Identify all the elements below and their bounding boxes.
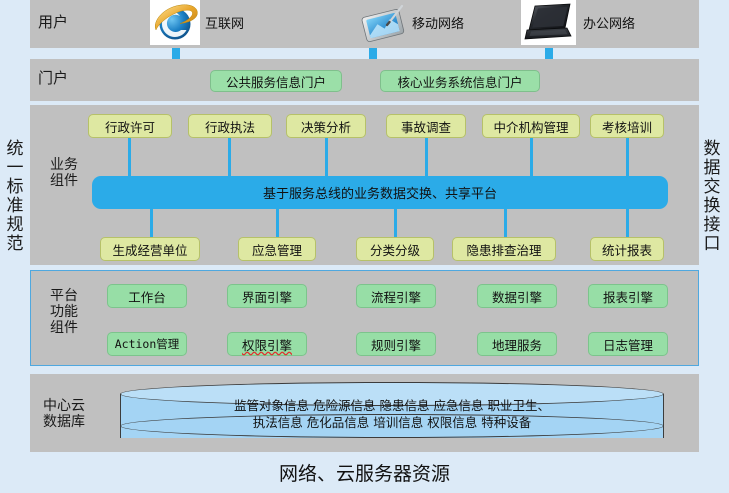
side-right-char-0: 数 <box>697 140 727 159</box>
side-left-char-5: 范 <box>0 235 30 254</box>
service-bus-bar[interactable]: 基于服务总线的业务数据交换、共享平台 <box>92 176 668 209</box>
connector-line <box>276 209 279 237</box>
business-node-administrative-enforcement[interactable]: 行政执法 <box>188 114 272 138</box>
internet-endpoint-label: 互联网 <box>205 13 244 32</box>
database-row-label-line-0: 中心云 <box>33 398 95 414</box>
portal-row-label: 门户 <box>38 70 98 87</box>
users-row-label: 用户 <box>38 14 98 31</box>
side-right-char-3: 换 <box>697 197 727 216</box>
platform-node-ui-engine[interactable]: 界面引擎 <box>227 284 307 308</box>
business-node-assessment-training[interactable]: 考核培训 <box>590 114 664 138</box>
business-node-statistical-report[interactable]: 统计报表 <box>590 237 664 261</box>
platform-node-process-engine[interactable]: 流程引擎 <box>356 284 436 308</box>
business-node-decision-analysis[interactable]: 决策分析 <box>286 114 366 138</box>
business-node-agency-management[interactable]: 中介机构管理 <box>482 114 580 138</box>
database-row-label-line-1: 数据库 <box>33 414 95 430</box>
platform-node-data-engine[interactable]: 数据引擎 <box>477 284 557 308</box>
platform-row-label-line-0: 平台 <box>40 288 88 304</box>
platform-node-log-management[interactable]: 日志管理 <box>588 332 668 356</box>
platform-node-rule-engine[interactable]: 规则引擎 <box>356 332 436 356</box>
side-right-char-1: 据 <box>697 159 727 178</box>
connector-line <box>128 138 131 176</box>
side-right-char-5: 口 <box>697 235 727 254</box>
database-row-label: 中心云 数据库 <box>33 398 95 430</box>
side-left-char-2: 标 <box>0 178 30 197</box>
business-node-production-unit[interactable]: 生成经营单位 <box>100 237 200 261</box>
diagram-root: 统 一 标 准 规 范 数 据 交 换 接 口 用户 <box>0 0 729 493</box>
platform-node-workbench[interactable]: 工作台 <box>107 284 187 308</box>
business-node-administrative-permit[interactable]: 行政许可 <box>88 114 172 138</box>
platform-row-label-line-1: 功能 <box>40 304 88 320</box>
side-right-char-2: 交 <box>697 178 727 197</box>
platform-node-permission-engine-label: 权限引擎 <box>242 335 292 354</box>
platform-node-report-engine[interactable]: 报表引擎 <box>588 284 668 308</box>
central-cloud-database-cylinder: 监管对象信息 危险源信息 隐患信息 应急信息 职业卫生、 执法信息 危化品信息 … <box>120 382 664 444</box>
connector-line <box>504 209 507 237</box>
connector-line <box>530 138 533 176</box>
connector-line <box>150 209 153 237</box>
connector-line <box>394 209 397 237</box>
internet-explorer-icon <box>150 0 200 45</box>
side-label-unified-standards: 统 一 标 准 规 范 <box>0 140 30 254</box>
business-node-emergency-management[interactable]: 应急管理 <box>238 237 316 261</box>
business-row-label: 业务 组件 <box>40 157 88 189</box>
connector-line <box>626 209 629 237</box>
cylinder-line-0: 监管对象信息 危险源信息 隐患信息 应急信息 职业卫生、 <box>120 398 664 415</box>
laptop-icon <box>521 0 576 45</box>
connector-line <box>325 138 328 176</box>
mobile-network-endpoint-label: 移动网络 <box>412 13 464 32</box>
portal-band <box>30 59 699 101</box>
side-left-char-3: 准 <box>0 197 30 216</box>
side-left-char-4: 规 <box>0 216 30 235</box>
business-node-classification-grading[interactable]: 分类分级 <box>356 237 434 261</box>
platform-node-permission-engine[interactable]: 权限引擎 <box>227 332 307 356</box>
side-right-char-4: 接 <box>697 216 727 235</box>
bottom-caption: 网络、云服务器资源 <box>0 459 729 486</box>
internet-explorer-plate <box>150 0 200 45</box>
portal-item-core-business[interactable]: 核心业务系统信息门户 <box>380 70 540 92</box>
connector-line <box>425 138 428 176</box>
cylinder-content-text: 监管对象信息 危险源信息 隐患信息 应急信息 职业卫生、 执法信息 危化品信息 … <box>120 398 664 432</box>
office-network-endpoint-label: 办公网络 <box>583 13 635 32</box>
connector-line <box>626 138 629 176</box>
side-label-data-exchange-interface: 数 据 交 换 接 口 <box>697 140 727 254</box>
side-left-char-1: 一 <box>0 159 30 178</box>
business-node-accident-investigation[interactable]: 事故调查 <box>386 114 466 138</box>
platform-node-action-management[interactable]: Action管理 <box>107 332 187 356</box>
business-row-label-line-1: 组件 <box>40 173 88 189</box>
platform-row-label-line-2: 组件 <box>40 320 88 336</box>
side-left-char-0: 统 <box>0 140 30 159</box>
portal-item-public-service[interactable]: 公共服务信息门户 <box>210 70 342 92</box>
platform-node-geographic-service[interactable]: 地理服务 <box>477 332 557 356</box>
laptop-plate <box>521 0 576 45</box>
connector-line <box>228 138 231 176</box>
tablet-stylus-icon <box>358 4 408 44</box>
business-node-hazard-investigation[interactable]: 隐患排查治理 <box>452 237 556 261</box>
platform-row-label: 平台 功能 组件 <box>40 288 88 336</box>
cylinder-line-1: 执法信息 危化品信息 培训信息 权限信息 特种设备 <box>120 415 664 432</box>
business-row-label-line-0: 业务 <box>40 157 88 173</box>
